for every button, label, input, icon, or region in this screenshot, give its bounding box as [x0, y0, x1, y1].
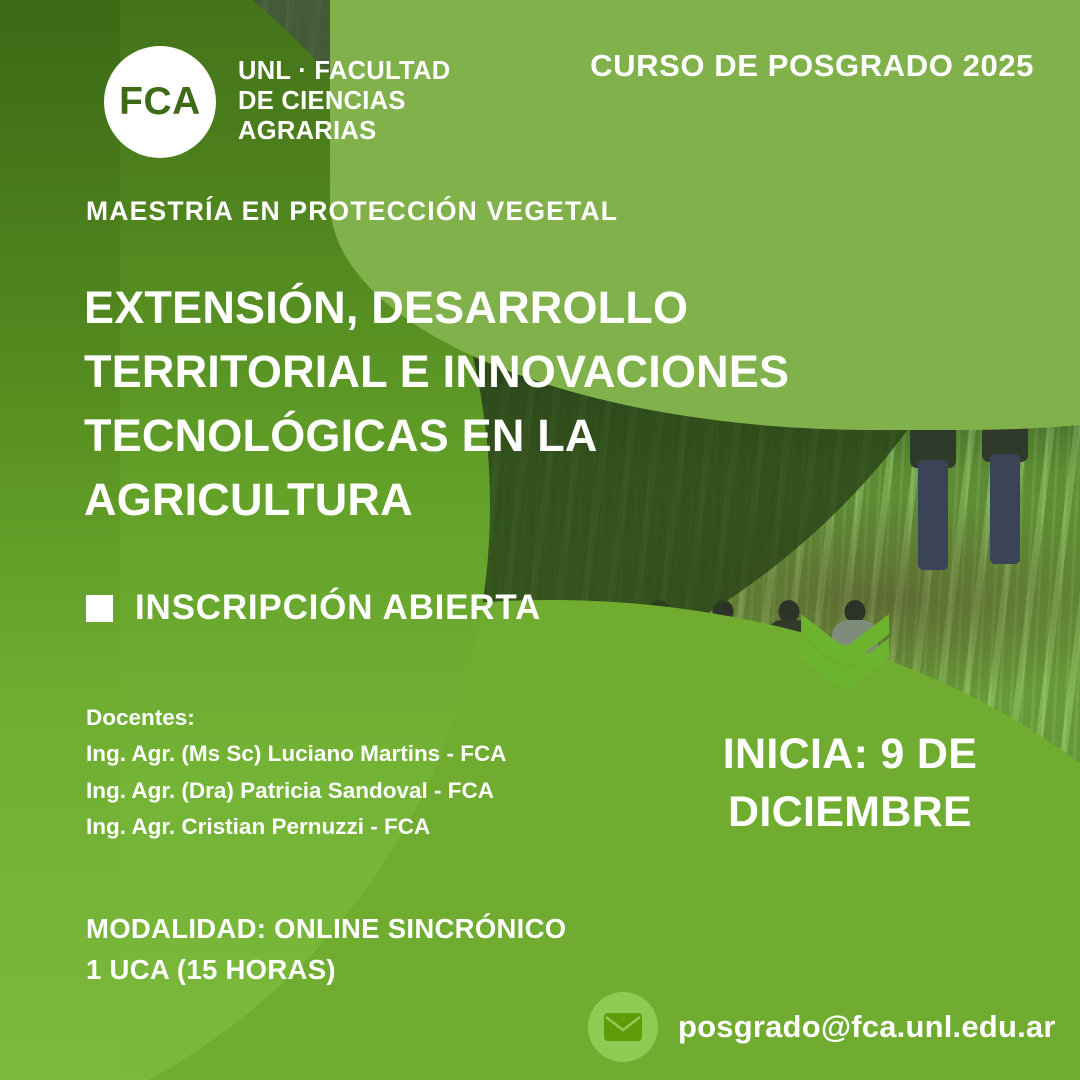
- institution-logo: FCA UNL · FACULTAD DE CIENCIAS AGRARIAS: [104, 46, 450, 158]
- institution-name-line2: DE CIENCIAS: [238, 87, 450, 117]
- teachers-block: Docentes: Ing. Agr. (Ms Sc) Luciano Mart…: [86, 700, 506, 846]
- square-bullet-icon: [86, 595, 113, 622]
- chevron-down-icon: [795, 612, 895, 688]
- fca-logo-text: FCA: [119, 80, 201, 124]
- start-date-line1: INICIA: 9 DE: [640, 725, 1060, 783]
- institution-name-line1: UNL · FACULTAD: [238, 57, 450, 87]
- teacher-item: Ing. Agr. Cristian Pernuzzi - FCA: [86, 809, 506, 845]
- envelope-icon-svg: [603, 1012, 643, 1042]
- teachers-label: Docentes:: [86, 700, 506, 736]
- content-layer: FCA UNL · FACULTAD DE CIENCIAS AGRARIAS …: [0, 0, 1080, 1080]
- chevron-down-icon-svg: [795, 612, 895, 688]
- modality-label: MODALIDAD: ONLINE SINCRÓNICO: [86, 908, 566, 949]
- contact-email-row[interactable]: posgrado@fca.unl.edu.ar: [588, 992, 1056, 1062]
- course-year-label: CURSO DE POSGRADO 2025: [590, 48, 1034, 84]
- start-date-block: INICIA: 9 DE DICIEMBRE: [640, 725, 1060, 841]
- course-title-line3: TECNOLÓGICAS EN LA: [84, 404, 904, 468]
- start-date-line2: DICIEMBRE: [640, 783, 1060, 841]
- course-title-line4: AGRICULTURA: [84, 468, 904, 532]
- course-title-line2: TERRITORIAL E INNOVACIONES: [84, 340, 904, 404]
- enrollment-status-label: INSCRIPCIÓN ABIERTA: [135, 588, 541, 628]
- email-icon: [588, 992, 658, 1062]
- fca-logo-circle: FCA: [104, 46, 216, 158]
- institution-name: UNL · FACULTAD DE CIENCIAS AGRARIAS: [238, 57, 450, 146]
- course-title-line1: EXTENSIÓN, DESARROLLO: [84, 276, 904, 340]
- program-label: MAESTRÍA EN PROTECCIÓN VEGETAL: [86, 196, 618, 227]
- teacher-item: Ing. Agr. (Dra) Patricia Sandoval - FCA: [86, 773, 506, 809]
- credits-label: 1 UCA (15 HORAS): [86, 949, 566, 990]
- institution-name-line3: AGRARIAS: [238, 117, 450, 147]
- teacher-item: Ing. Agr. (Ms Sc) Luciano Martins - FCA: [86, 736, 506, 772]
- enrollment-status-row: INSCRIPCIÓN ABIERTA: [86, 588, 541, 628]
- modality-block: MODALIDAD: ONLINE SINCRÓNICO 1 UCA (15 H…: [86, 908, 566, 991]
- poster: FCA UNL · FACULTAD DE CIENCIAS AGRARIAS …: [0, 0, 1080, 1080]
- email-address[interactable]: posgrado@fca.unl.edu.ar: [678, 1009, 1056, 1045]
- course-title: EXTENSIÓN, DESARROLLO TERRITORIAL E INNO…: [84, 276, 904, 532]
